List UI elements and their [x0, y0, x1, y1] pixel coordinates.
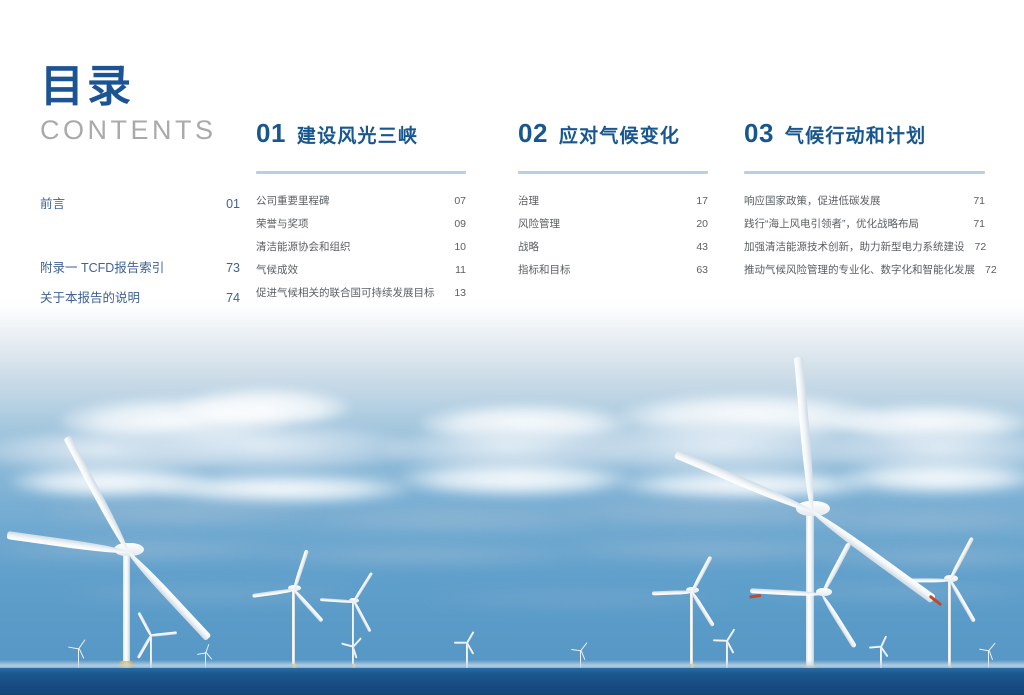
section-heading: 02 应对气候变化	[518, 118, 708, 149]
section-item-list: 响应国家政策，促进低碳发展 71 践行“海上风电引领者”，优化战略布局 71 加…	[744, 194, 985, 277]
toc-item[interactable]: 推动气候风险管理的专业化、数字化和智能化发展 72	[744, 263, 985, 277]
toc-item-page: 63	[686, 263, 708, 277]
toc-item-label: 公司重要里程碑	[256, 194, 330, 208]
section-item-list: 公司重要里程碑 07 荣誉与奖项 09 清洁能源协会和组织 10 气候成效 11…	[256, 194, 466, 300]
toc-item[interactable]: 响应国家政策，促进低碳发展 71	[744, 194, 985, 208]
section-divider	[518, 171, 708, 174]
toc-entry-page: 74	[226, 290, 240, 306]
toc-item-label: 响应国家政策，促进低碳发展	[744, 194, 881, 208]
section-column-01: 01 建设风光三峡 公司重要里程碑 07 荣誉与奖项 09 清洁能源协会和组织 …	[256, 118, 466, 309]
toc-entry-label: 前言	[40, 196, 65, 212]
toc-item[interactable]: 公司重要里程碑 07	[256, 194, 466, 208]
toc-item-label: 促进气候相关的联合国可持续发展目标	[256, 286, 435, 300]
toc-item-page: 20	[686, 217, 708, 231]
toc-item-label: 荣誉与奖项	[256, 217, 309, 231]
section-title: 建设风光三峡	[297, 121, 418, 148]
toc-item[interactable]: 践行“海上风电引领者”，优化战略布局 71	[744, 217, 985, 231]
toc-item-label: 治理	[518, 194, 539, 208]
toc-item-label: 气候成效	[256, 263, 298, 277]
left-column: 前言 01 附录一 TCFD报告索引 73 关于本报告的说明 74	[40, 196, 240, 306]
toc-item-page: 07	[444, 194, 466, 208]
toc-item-label: 加强清洁能源技术创新，助力新型电力系统建设	[744, 240, 965, 254]
section-item-list: 治理 17 风险管理 20 战略 43 指标和目标 63	[518, 194, 708, 277]
toc-item-page: 09	[444, 217, 466, 231]
toc-item-label: 清洁能源协会和组织	[256, 240, 351, 254]
toc-item-page: 10	[444, 240, 466, 254]
section-divider	[256, 171, 466, 174]
spacer	[40, 276, 240, 290]
toc-item[interactable]: 治理 17	[518, 194, 708, 208]
toc-entry-label: 附录一 TCFD报告索引	[40, 260, 164, 276]
toc-item[interactable]: 风险管理 20	[518, 217, 708, 231]
toc-item[interactable]: 战略 43	[518, 240, 708, 254]
section-divider	[744, 171, 985, 174]
section-column-03: 03 气候行动和计划 响应国家政策，促进低碳发展 71 践行“海上风电引领者”，…	[744, 118, 985, 286]
toc-item-page: 72	[975, 263, 997, 277]
toc-item[interactable]: 清洁能源协会和组织 10	[256, 240, 466, 254]
section-column-02: 02 应对气候变化 治理 17 风险管理 20 战略 43 指标和目标 63	[518, 118, 708, 286]
toc-item-label: 践行“海上风电引领者”，优化战略布局	[744, 217, 919, 231]
toc-item-page: 72	[965, 240, 987, 254]
toc-entry-page: 73	[226, 260, 240, 276]
toc-item-label: 指标和目标	[518, 263, 571, 277]
section-title: 应对气候变化	[559, 121, 680, 148]
toc-item[interactable]: 促进气候相关的联合国可持续发展目标 13	[256, 286, 466, 300]
toc-item-page: 71	[963, 217, 985, 231]
toc-item-page: 11	[445, 263, 466, 277]
section-number: 01	[256, 118, 286, 149]
section-number: 02	[518, 118, 548, 149]
toc-item[interactable]: 指标和目标 63	[518, 263, 708, 277]
section-number: 03	[744, 118, 774, 149]
toc-item[interactable]: 气候成效 11	[256, 263, 466, 277]
page-title-cn: 目录	[40, 62, 217, 112]
section-heading: 01 建设风光三峡	[256, 118, 466, 149]
section-title: 气候行动和计划	[785, 121, 926, 148]
toc-item-page: 43	[686, 240, 708, 254]
toc-item-page: 13	[444, 286, 466, 300]
section-heading: 03 气候行动和计划	[744, 118, 985, 149]
page-title: 目录 CONTENTS	[40, 62, 217, 146]
toc-entry-about-report[interactable]: 关于本报告的说明 74	[40, 290, 240, 306]
toc-item-label: 推动气候风险管理的专业化、数字化和智能化发展	[744, 263, 975, 277]
toc-entry-appendix[interactable]: 附录一 TCFD报告索引 73	[40, 260, 240, 276]
toc-item[interactable]: 荣誉与奖项 09	[256, 217, 466, 231]
page-title-en: CONTENTS	[40, 114, 217, 146]
toc-item-page: 71	[963, 194, 985, 208]
toc-item-page: 17	[686, 194, 708, 208]
toc-entry-label: 关于本报告的说明	[40, 290, 140, 306]
toc-entry-preface[interactable]: 前言 01	[40, 196, 240, 212]
toc-item-label: 风险管理	[518, 217, 560, 231]
toc-item[interactable]: 加强清洁能源技术创新，助力新型电力系统建设 72	[744, 240, 985, 254]
toc-item-label: 战略	[518, 240, 539, 254]
toc-entry-page: 01	[226, 196, 240, 212]
spacer	[40, 212, 240, 260]
toc-page: 目录 CONTENTS 前言 01 附录一 TCFD报告索引 73 关于本报告的…	[0, 0, 1024, 695]
